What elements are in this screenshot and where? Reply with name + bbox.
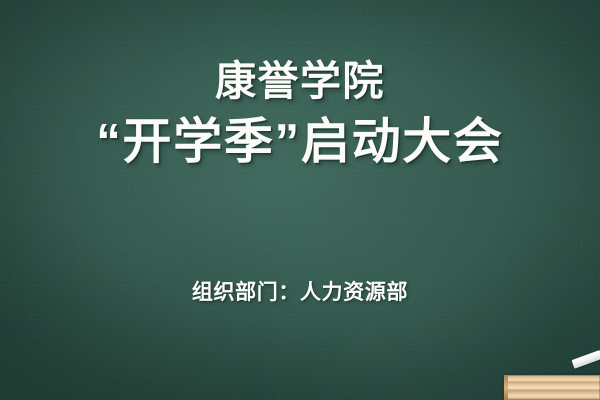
title-line-1: 康誉学院	[0, 58, 600, 106]
slide-subtitle: 组织部门：人力资源部	[0, 276, 600, 306]
wooden-chalk-ledge	[504, 375, 600, 400]
title-line-2: “开学季”启动大会	[0, 114, 600, 171]
ledge-left-cap	[504, 375, 508, 400]
slide-content: 康誉学院 “开学季”启动大会 组织部门：人力资源部	[0, 0, 600, 400]
title-slide: 康誉学院 “开学季”启动大会 组织部门：人力资源部	[0, 0, 600, 400]
slide-title: 康誉学院 “开学季”启动大会	[0, 58, 600, 170]
